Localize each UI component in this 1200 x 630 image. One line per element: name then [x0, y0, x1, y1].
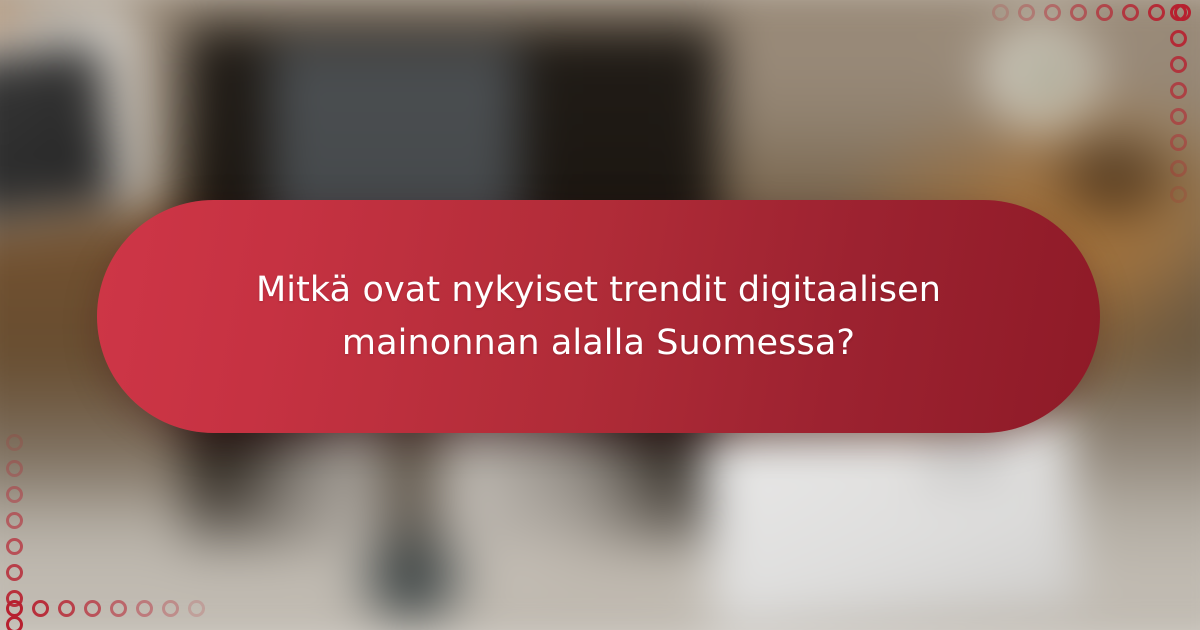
- quote-text: Mitkä ovat nykyiset trendit digitaalisen…: [204, 264, 994, 370]
- background-flower-core: [1014, 50, 1077, 102]
- background-dark-object: [332, 520, 494, 630]
- quote-card: Mitkä ovat nykyiset trendit digitaalisen…: [97, 200, 1100, 433]
- social-card-canvas: Mitkä ovat nykyiset trendit digitaalisen…: [0, 0, 1200, 630]
- background-paper-sheet: [702, 410, 1082, 630]
